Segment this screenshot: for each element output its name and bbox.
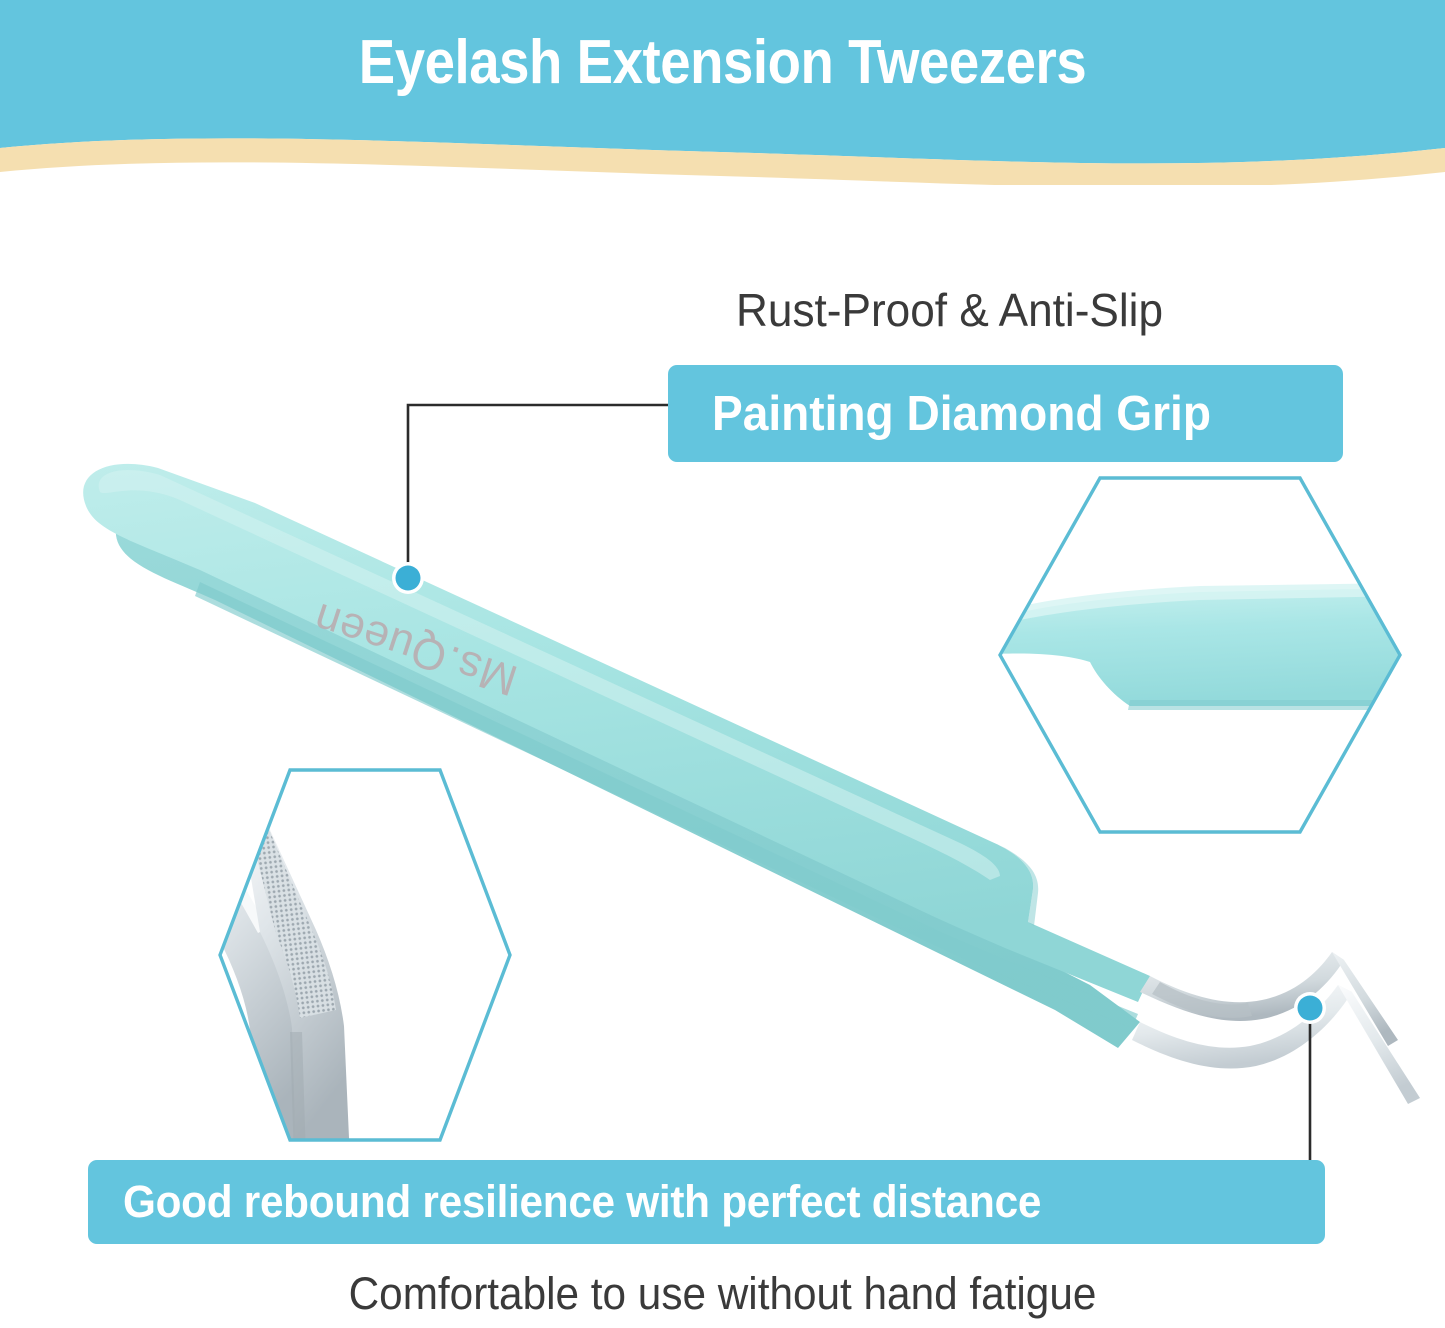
- infographic-page: Eyelash Extension Tweezers: [0, 0, 1445, 1328]
- grip-hexagon-detail: [995, 472, 1410, 838]
- rust-proof-caption: Rust-Proof & Anti-Slip: [736, 283, 1163, 337]
- good-rebound-banner: Good rebound resilience with perfect dis…: [88, 1160, 1325, 1244]
- hexagon-frame-icon: [220, 770, 510, 1140]
- brand-text: Ms.Queen: [307, 593, 523, 705]
- product-illustration: Ms.Queen: [0, 0, 1445, 1328]
- painting-diamond-grip-label: Painting Diamond Grip: [712, 386, 1211, 442]
- tweezer-front-handle: [83, 464, 1150, 1028]
- hexagon-frame-icon: [1000, 478, 1400, 832]
- callout-dot-icon: [396, 566, 421, 591]
- good-rebound-label: Good rebound resilience with perfect dis…: [123, 1176, 1041, 1228]
- page-title: Eyelash Extension Tweezers: [87, 30, 1359, 95]
- callout-dot-icon: [1298, 996, 1323, 1021]
- lower-tip-point: [1332, 952, 1398, 1046]
- header-banner: Eyelash Extension Tweezers: [0, 0, 1445, 185]
- brand-logo: Ms.Queen: [307, 593, 523, 705]
- painting-diamond-grip-banner: Painting Diamond Grip: [668, 365, 1343, 462]
- leader-line-icon: [408, 405, 676, 578]
- comfort-caption: Comfortable to use without hand fatigue: [43, 1268, 1401, 1320]
- tweezer-steel-tips: [1132, 952, 1420, 1104]
- upper-tip-point: [1338, 985, 1420, 1104]
- tips-hexagon-detail: [178, 765, 515, 1160]
- handle-body: [83, 464, 1150, 1002]
- rebound-callout-leader: [1294, 992, 1326, 1168]
- tweezer-back-arm: [116, 510, 1140, 1048]
- grip-callout-leader: [392, 405, 676, 594]
